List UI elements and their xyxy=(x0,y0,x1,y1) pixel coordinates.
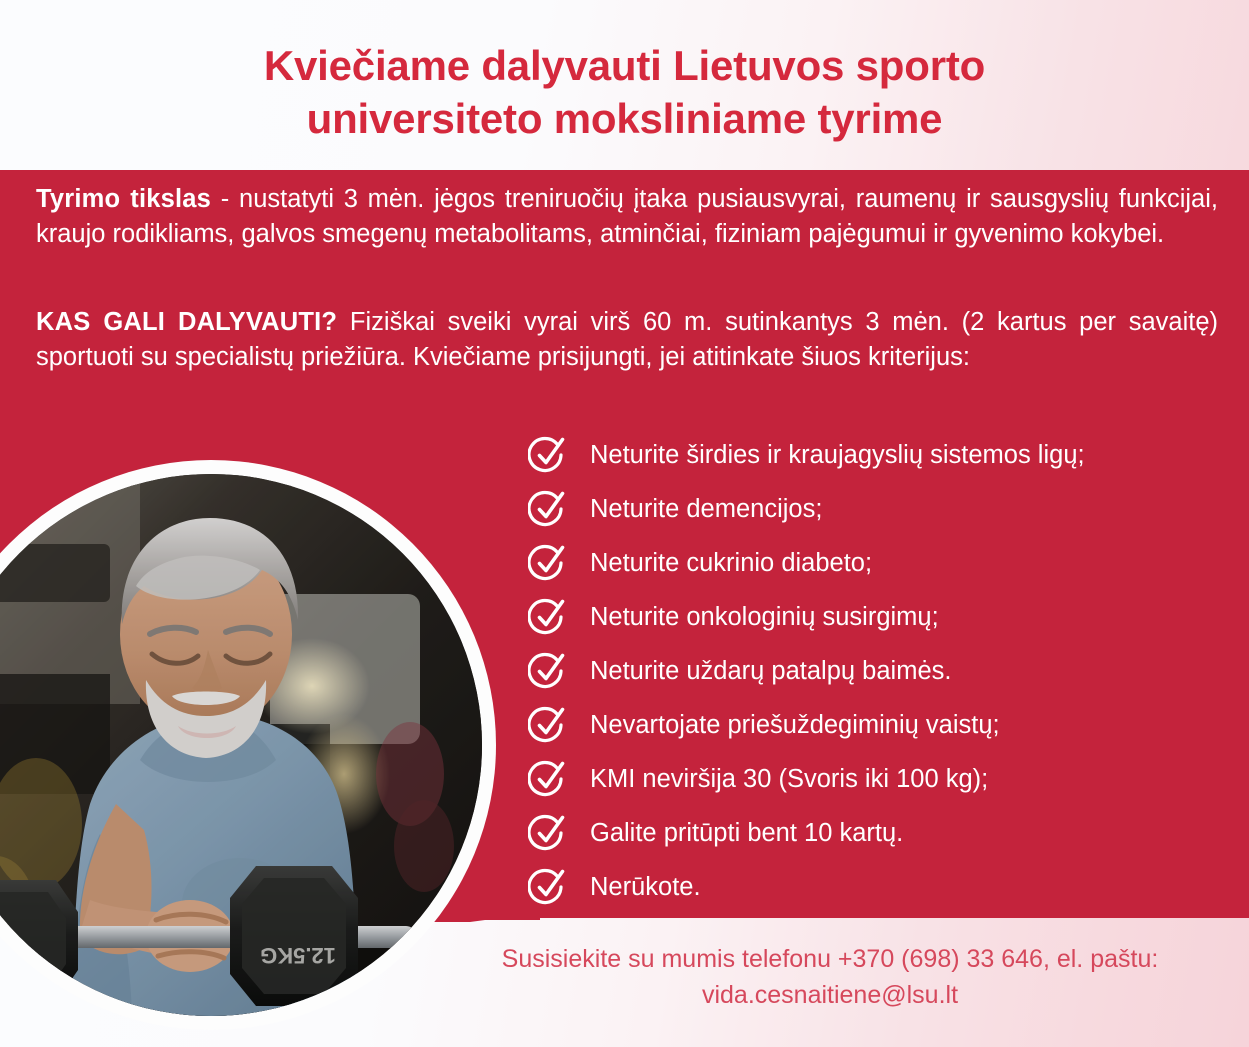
page-title-line-1: Kviečiame dalyvauti Lietuvos sporto xyxy=(264,39,985,92)
list-item: Neturite cukrinio diabeto; xyxy=(528,540,1228,586)
list-item-label: Nevartojate priešuždegiminių vaistų; xyxy=(590,711,1000,739)
list-item: KMI neviršija 30 (Svoris iki 100 kg); xyxy=(528,756,1228,802)
check-circle-icon xyxy=(528,813,568,853)
study-goal-block: Tyrimo tikslas - nustatyti 3 mėn. jėgos … xyxy=(36,182,1218,251)
eligibility-intro-block: KAS GALI DALYVAUTI? Fiziškai sveiki vyra… xyxy=(36,305,1218,374)
list-item: Neturite demencijos; xyxy=(528,486,1228,532)
study-goal-text: - nustatyti 3 mėn. jėgos treniruočių įta… xyxy=(36,185,1218,248)
poster-root: Kviečiame dalyvauti Lietuvos sporto univ… xyxy=(0,0,1249,1047)
gym-photo-illustration: 12.5KG xyxy=(0,474,482,1016)
list-item-label: KMI neviršija 30 (Svoris iki 100 kg); xyxy=(590,765,988,793)
check-circle-icon xyxy=(528,489,568,529)
list-item-label: Galite pritūpti bent 10 kartų. xyxy=(590,819,903,847)
list-item: Nevartojate priešuždegiminių vaistų; xyxy=(528,702,1228,748)
contact-email-line[interactable]: vida.cesnaitiene@lsu.lt xyxy=(430,978,1230,1014)
photo-circle: 12.5KG xyxy=(0,474,482,1016)
eligibility-intro-paragraph: KAS GALI DALYVAUTI? Fiziškai sveiki vyra… xyxy=(36,305,1218,374)
list-item: Neturite onkologinių susirgimų; xyxy=(528,594,1228,640)
study-goal-paragraph: Tyrimo tikslas - nustatyti 3 mėn. jėgos … xyxy=(36,182,1218,251)
list-item-label: Neturite širdies ir kraujagyslių sistemo… xyxy=(590,441,1085,469)
eligibility-question-label: KAS GALI DALYVAUTI? xyxy=(36,308,337,336)
criteria-checklist: Neturite širdies ir kraujagyslių sistemo… xyxy=(528,432,1228,910)
list-item: Neturite uždarų patalpų baimės. xyxy=(528,648,1228,694)
contact-phone-line: Susisiekite su mumis telefonu +370 (698)… xyxy=(430,942,1230,978)
list-item-label: Neturite onkologinių susirgimų; xyxy=(590,603,939,631)
list-item: Neturite širdies ir kraujagyslių sistemo… xyxy=(528,432,1228,478)
check-circle-icon xyxy=(528,867,568,907)
poster-header: Kviečiame dalyvauti Lietuvos sporto univ… xyxy=(0,0,1249,170)
page-title-line-2: universiteto moksliniame tyrime xyxy=(307,92,943,145)
check-circle-icon xyxy=(528,705,568,745)
check-circle-icon xyxy=(528,597,568,637)
list-item: Nerūkote. xyxy=(528,864,1228,910)
study-goal-label: Tyrimo tikslas xyxy=(36,185,211,213)
list-item-label: Nerūkote. xyxy=(590,873,701,901)
check-circle-icon xyxy=(528,435,568,475)
contact-footer: Susisiekite su mumis telefonu +370 (698)… xyxy=(430,942,1230,1013)
check-circle-icon xyxy=(528,651,568,691)
check-circle-icon xyxy=(528,759,568,799)
list-item: Galite pritūpti bent 10 kartų. xyxy=(528,810,1228,856)
list-item-label: Neturite uždarų patalpų baimės. xyxy=(590,657,951,685)
list-item-label: Neturite demencijos; xyxy=(590,495,822,523)
check-circle-icon xyxy=(528,543,568,583)
list-item-label: Neturite cukrinio diabeto; xyxy=(590,549,872,577)
